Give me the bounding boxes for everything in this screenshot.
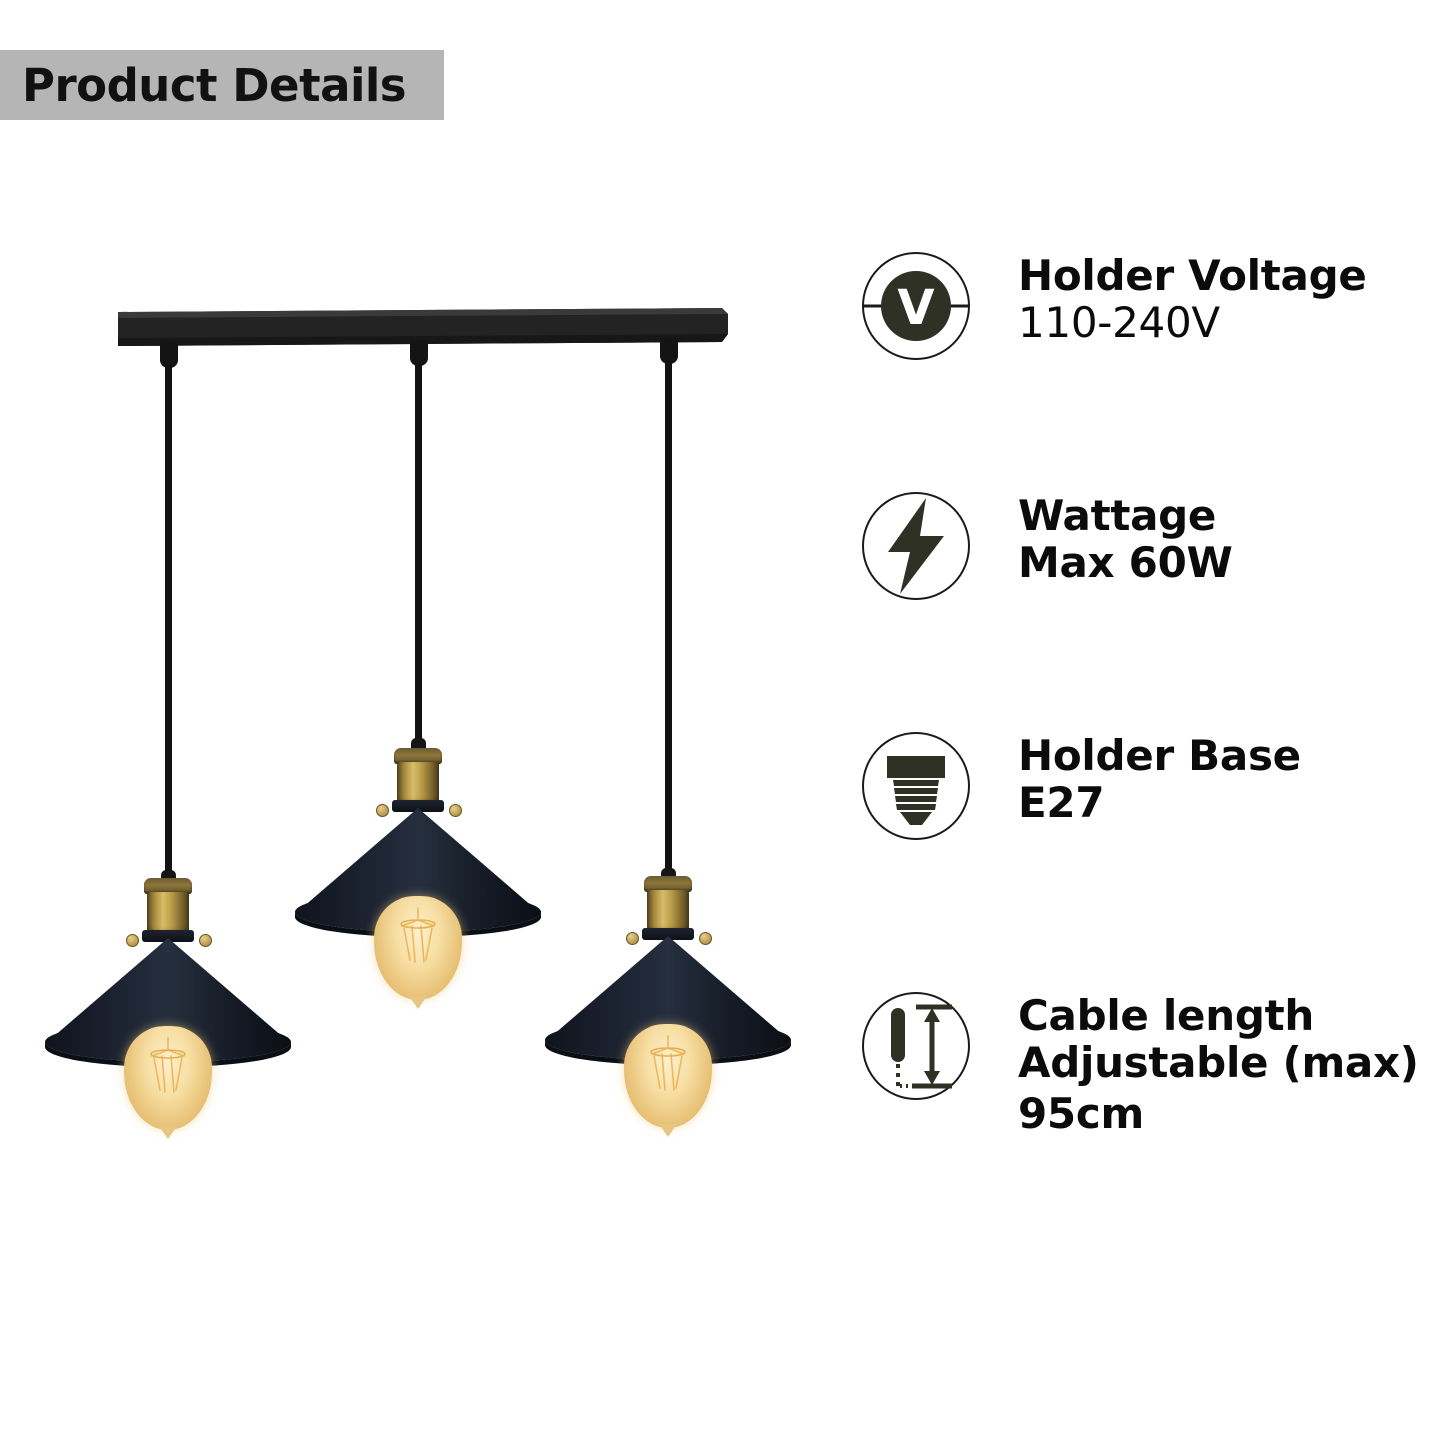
spec-row-cable-length: Cable length Adjustable (max) 95cm: [860, 990, 1419, 1143]
socket-body-right: [647, 890, 689, 932]
spec-label-wattage: Wattage: [1018, 492, 1233, 539]
lamp-base-screw-icon: [860, 730, 972, 842]
cable-left: [165, 364, 172, 874]
spec-text-cable-length: Cable length Adjustable (max) 95cm: [1018, 992, 1419, 1143]
spec-text-holder-base: Holder Base E27: [1018, 732, 1301, 826]
bulb-tip-right: [659, 1124, 677, 1137]
cable-center: [415, 362, 422, 742]
spec-text-voltage: Holder Voltage 110-240V: [1018, 252, 1367, 346]
spec-value-wattage: Max 60W: [1018, 539, 1233, 586]
spec-value-voltage: 110-240V: [1018, 299, 1367, 346]
spec-label-cable-length: Cable length: [1018, 992, 1419, 1039]
product-details-page: Product Details: [0, 0, 1445, 1445]
bulb-right: [624, 1024, 712, 1128]
bulb-center: [374, 896, 462, 1000]
bulb-tip-left: [159, 1126, 177, 1139]
voltage-icon-glyph: V: [897, 280, 934, 336]
spec-row-wattage: Wattage Max 60W: [860, 490, 1233, 602]
page-title: Product Details: [22, 63, 406, 108]
spec-value-cable-length-measure: 95cm: [1018, 1086, 1419, 1143]
bulb-tip-center: [409, 996, 427, 1009]
spec-label-voltage: Holder Voltage: [1018, 252, 1367, 299]
bulb-left: [124, 1026, 212, 1130]
voltage-icon: V: [860, 250, 972, 362]
socket-body-left: [147, 892, 189, 934]
spec-row-voltage: V Holder Voltage 110-240V: [860, 250, 1367, 362]
spec-text-wattage: Wattage Max 60W: [1018, 492, 1233, 586]
spec-value-holder-base: E27: [1018, 779, 1301, 826]
cable-length-icon: [860, 990, 972, 1102]
cable-right: [665, 360, 672, 872]
spec-value-cable-length: Adjustable (max): [1018, 1039, 1419, 1086]
spec-label-holder-base: Holder Base: [1018, 732, 1301, 779]
header-banner: Product Details: [0, 50, 444, 120]
socket-body-center: [397, 762, 439, 804]
product-photo: [0, 170, 840, 1170]
lightning-bolt-icon: [860, 490, 972, 602]
spec-row-holder-base: Holder Base E27: [860, 730, 1301, 842]
